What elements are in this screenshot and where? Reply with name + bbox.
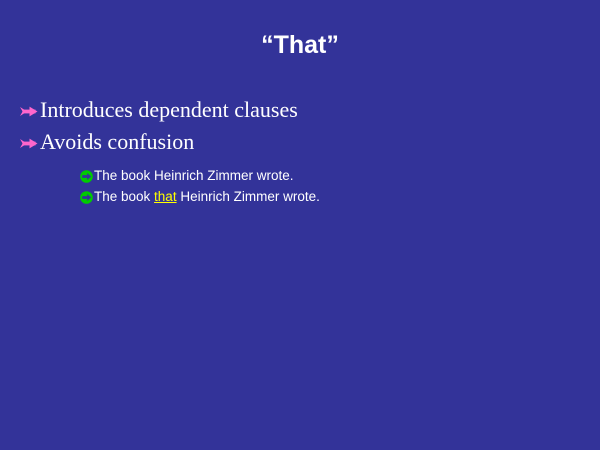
green-circle-arrow-bullet-icon [79, 169, 94, 184]
highlighted-word: that [154, 189, 177, 204]
sub-bullet-text-after: Heinrich Zimmer wrote. [177, 189, 320, 204]
green-circle-arrow-bullet-icon [79, 190, 94, 205]
list-item: Introduces dependent clauses [0, 96, 600, 128]
list-item: Avoids confusion [0, 128, 600, 160]
bullet-list: Introduces dependent clauses Avoids conf… [0, 96, 600, 208]
sub-bullet-text-before: The book [94, 189, 154, 204]
sub-bullet-text-before: The book Heinrich Zimmer wrote. [94, 168, 294, 183]
list-item-label: Introduces dependent clauses [40, 96, 298, 124]
sub-bullet-list: The book Heinrich Zimmer wrote. The book… [0, 166, 600, 208]
list-item: The book Heinrich Zimmer wrote. [0, 166, 600, 187]
list-item-label: Avoids confusion [40, 128, 194, 156]
pink-arrow-bullet-icon [18, 133, 40, 155]
list-item: The book that Heinrich Zimmer wrote. [0, 187, 600, 208]
list-item-label: The book that Heinrich Zimmer wrote. [94, 187, 320, 206]
pink-arrow-bullet-icon [18, 101, 40, 123]
slide-canvas: “That” Introduces dependent clauses [0, 0, 600, 450]
list-item-label: The book Heinrich Zimmer wrote. [94, 166, 294, 185]
page-title: “That” [0, 31, 600, 60]
